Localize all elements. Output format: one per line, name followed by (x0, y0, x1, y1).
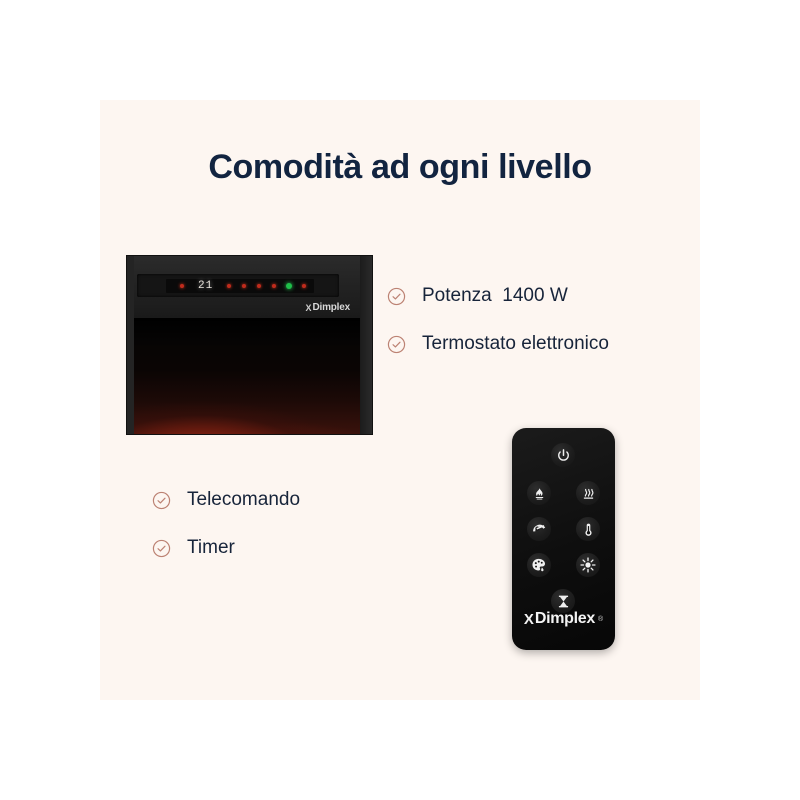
list-item: Telecomando (152, 490, 300, 511)
display-temperature: 21 (198, 280, 213, 292)
fireplace-brand-logo: X Dimplex (305, 302, 350, 313)
content-card: Comodità ad ogni livello 21 (100, 100, 700, 700)
remote-control-image: X Dimplex ® (512, 428, 615, 650)
thermostat-led-icon (257, 284, 261, 288)
flame-speed-dial-icon (531, 521, 547, 537)
list-item: Timer (152, 538, 300, 559)
brand-mark-icon: X (305, 303, 310, 313)
feature-label: Termostato elettronico (422, 334, 609, 355)
fireplace-led-display: 21 (166, 279, 314, 293)
fireplace-left-bezel (127, 256, 134, 434)
flame-led-icon (227, 284, 231, 288)
heater-led-icon (242, 284, 246, 288)
power-button[interactable] (551, 443, 575, 467)
feature-label: Potenza 1400 W (422, 286, 568, 307)
thermometer-icon (581, 522, 596, 537)
fireplace-right-bezel (360, 256, 372, 434)
list-item: Termostato elettronico (387, 334, 609, 355)
flame-top-shadow (134, 318, 360, 348)
timer-led-icon (302, 284, 306, 288)
brand-name: Dimplex (535, 610, 595, 628)
heater-button[interactable] (576, 481, 600, 505)
check-circle-icon (152, 491, 171, 510)
brightness-led-icon (272, 284, 276, 288)
flame-effect-button[interactable] (527, 481, 551, 505)
fireplace-product-image: 21 X Dimplex (127, 256, 372, 434)
brand-name: Dimplex (312, 302, 350, 313)
feature-list-secondary: Telecomando Timer (152, 490, 300, 559)
hourglass-icon (556, 594, 571, 609)
colour-palette-icon (531, 557, 547, 573)
check-circle-icon (387, 335, 406, 354)
registered-trademark-symbol: ® (598, 616, 603, 623)
heat-waves-icon (581, 486, 596, 501)
feature-list-primary: Potenza 1400 W Termostato elettronico (387, 286, 609, 355)
feature-label: Telecomando (187, 490, 300, 511)
thermostat-button[interactable] (576, 517, 600, 541)
check-circle-icon (387, 287, 406, 306)
sun-brightness-icon (580, 557, 596, 573)
brand-mark-icon: X (524, 611, 532, 628)
brightness-button[interactable] (576, 553, 600, 577)
power-icon (556, 448, 571, 463)
remote-brand-logo: X Dimplex ® (512, 610, 615, 628)
feature-label: Timer (187, 538, 235, 559)
product-feature-panel: Comodità ad ogni livello 21 (0, 0, 800, 800)
check-circle-icon (152, 539, 171, 558)
page-title: Comodità ad ogni livello (100, 148, 700, 187)
flame-speed-button[interactable] (527, 517, 551, 541)
active-led-icon (286, 283, 292, 289)
flame-colour-button[interactable] (527, 553, 551, 577)
standby-led-icon (180, 284, 184, 288)
flame-icon (532, 486, 547, 501)
fireplace-flame-area (134, 318, 360, 434)
list-item: Potenza 1400 W (387, 286, 609, 307)
